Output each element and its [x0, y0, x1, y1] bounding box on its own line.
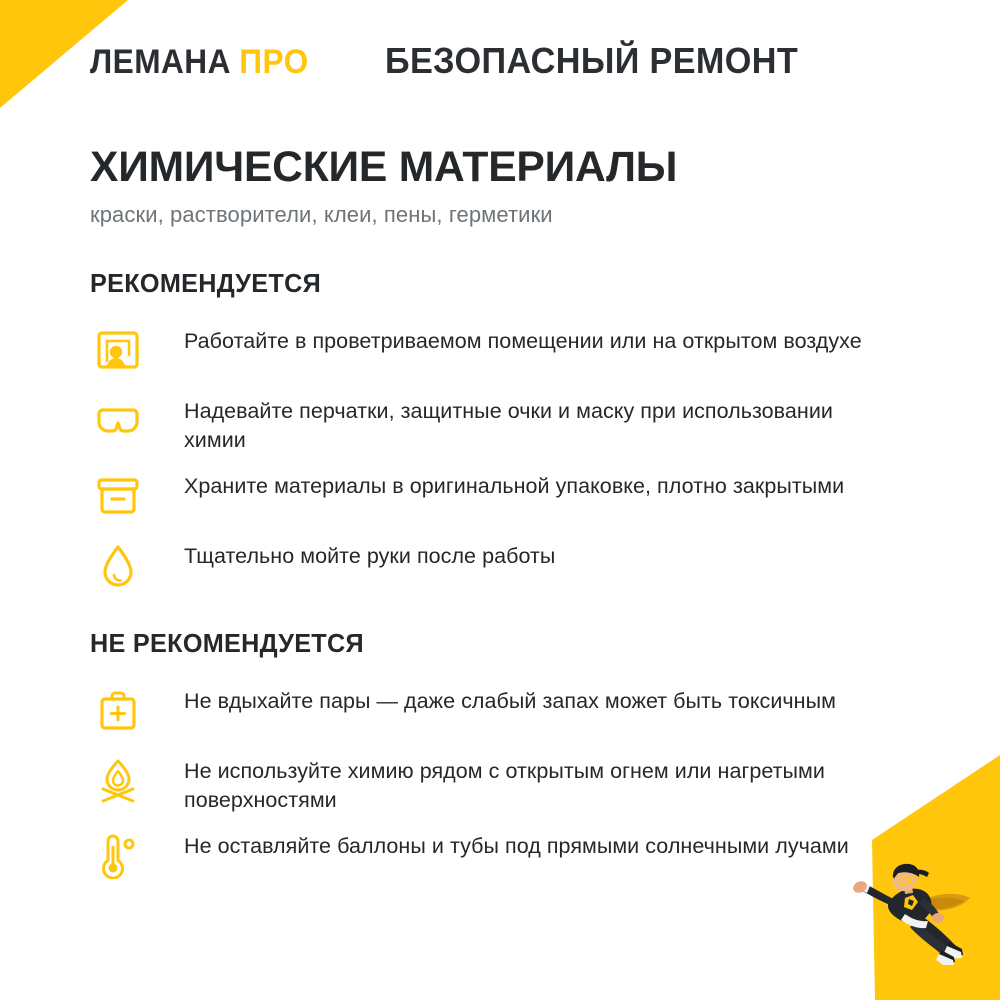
- recommended-list: Работайте в проветриваемом помещении или…: [90, 321, 884, 594]
- thermometer-sun-icon: [90, 828, 146, 884]
- infographic-poster: ЛЕМАНАПРО БЕЗОПАСНЫЙ РЕМОНТ ХИМИЧЕСКИЕ М…: [0, 0, 1000, 1000]
- header: ЛЕМАНАПРО БЕЗОПАСНЫЙ РЕМОНТ: [90, 40, 820, 82]
- title-block: ХИМИЧЕСКИЕ МАТЕРИАЛЫ краски, растворител…: [90, 145, 683, 228]
- list-item: Надевайте перчатки, защитные очки и маск…: [90, 391, 884, 454]
- list-item-text: Не используйте химию рядом с открытым ог…: [184, 751, 884, 814]
- list-item-text: Работайте в проветриваемом помещении или…: [184, 321, 862, 356]
- list-item: Храните материалы в оригинальной упаковк…: [90, 466, 884, 524]
- brand-logo-accent: ПРО: [239, 43, 308, 81]
- list-item-text: Храните материалы в оригинальной упаковк…: [184, 466, 844, 501]
- list-item: Не вдыхайте пары — даже слабый запах мож…: [90, 681, 884, 739]
- page-subtitle: краски, растворители, клеи, пены, гермет…: [90, 202, 683, 228]
- list-item-text: Надевайте перчатки, защитные очки и маск…: [184, 391, 884, 454]
- first-aid-kit-icon: [90, 683, 146, 739]
- brand-logo-main: ЛЕМАНА: [90, 43, 231, 81]
- water-drop-icon: [90, 538, 146, 594]
- list-item-text: Не вдыхайте пары — даже слабый запах мож…: [184, 681, 836, 716]
- campfire-icon: [90, 753, 146, 809]
- safety-goggles-icon: [90, 393, 146, 449]
- list-item-text: Тщательно мойте руки после работы: [184, 536, 555, 571]
- section-recommended: РЕКОМЕНДУЕТСЯ Работайте в проветриваемом…: [90, 268, 884, 606]
- section-heading-recommended: РЕКОМЕНДУЕТСЯ: [90, 268, 860, 299]
- brand-logo: ЛЕМАНАПРО: [90, 43, 309, 82]
- storage-box-icon: [90, 468, 146, 524]
- list-item: Работайте в проветриваемом помещении или…: [90, 321, 884, 379]
- not-recommended-list: Не вдыхайте пары — даже слабый запах мож…: [90, 681, 884, 884]
- flying-superhero-mascot: [850, 860, 982, 968]
- page-title: ХИМИЧЕСКИЕ МАТЕРИАЛЫ: [90, 145, 677, 190]
- list-item: Тщательно мойте руки после работы: [90, 536, 884, 594]
- list-item: Не используйте химию рядом с открытым ог…: [90, 751, 884, 814]
- list-item-text: Не оставляйте баллоны и тубы под прямыми…: [184, 826, 849, 861]
- section-not-recommended: НЕ РЕКОМЕНДУЕТСЯ Не вдыхайте пары — даже…: [90, 628, 884, 896]
- list-item: Не оставляйте баллоны и тубы под прямыми…: [90, 826, 884, 884]
- header-campaign-title: БЕЗОПАСНЫЙ РЕМОНТ: [385, 40, 798, 82]
- ventilated-room-icon: [90, 323, 146, 379]
- section-heading-not-recommended: НЕ РЕКОМЕНДУЕТСЯ: [90, 628, 860, 659]
